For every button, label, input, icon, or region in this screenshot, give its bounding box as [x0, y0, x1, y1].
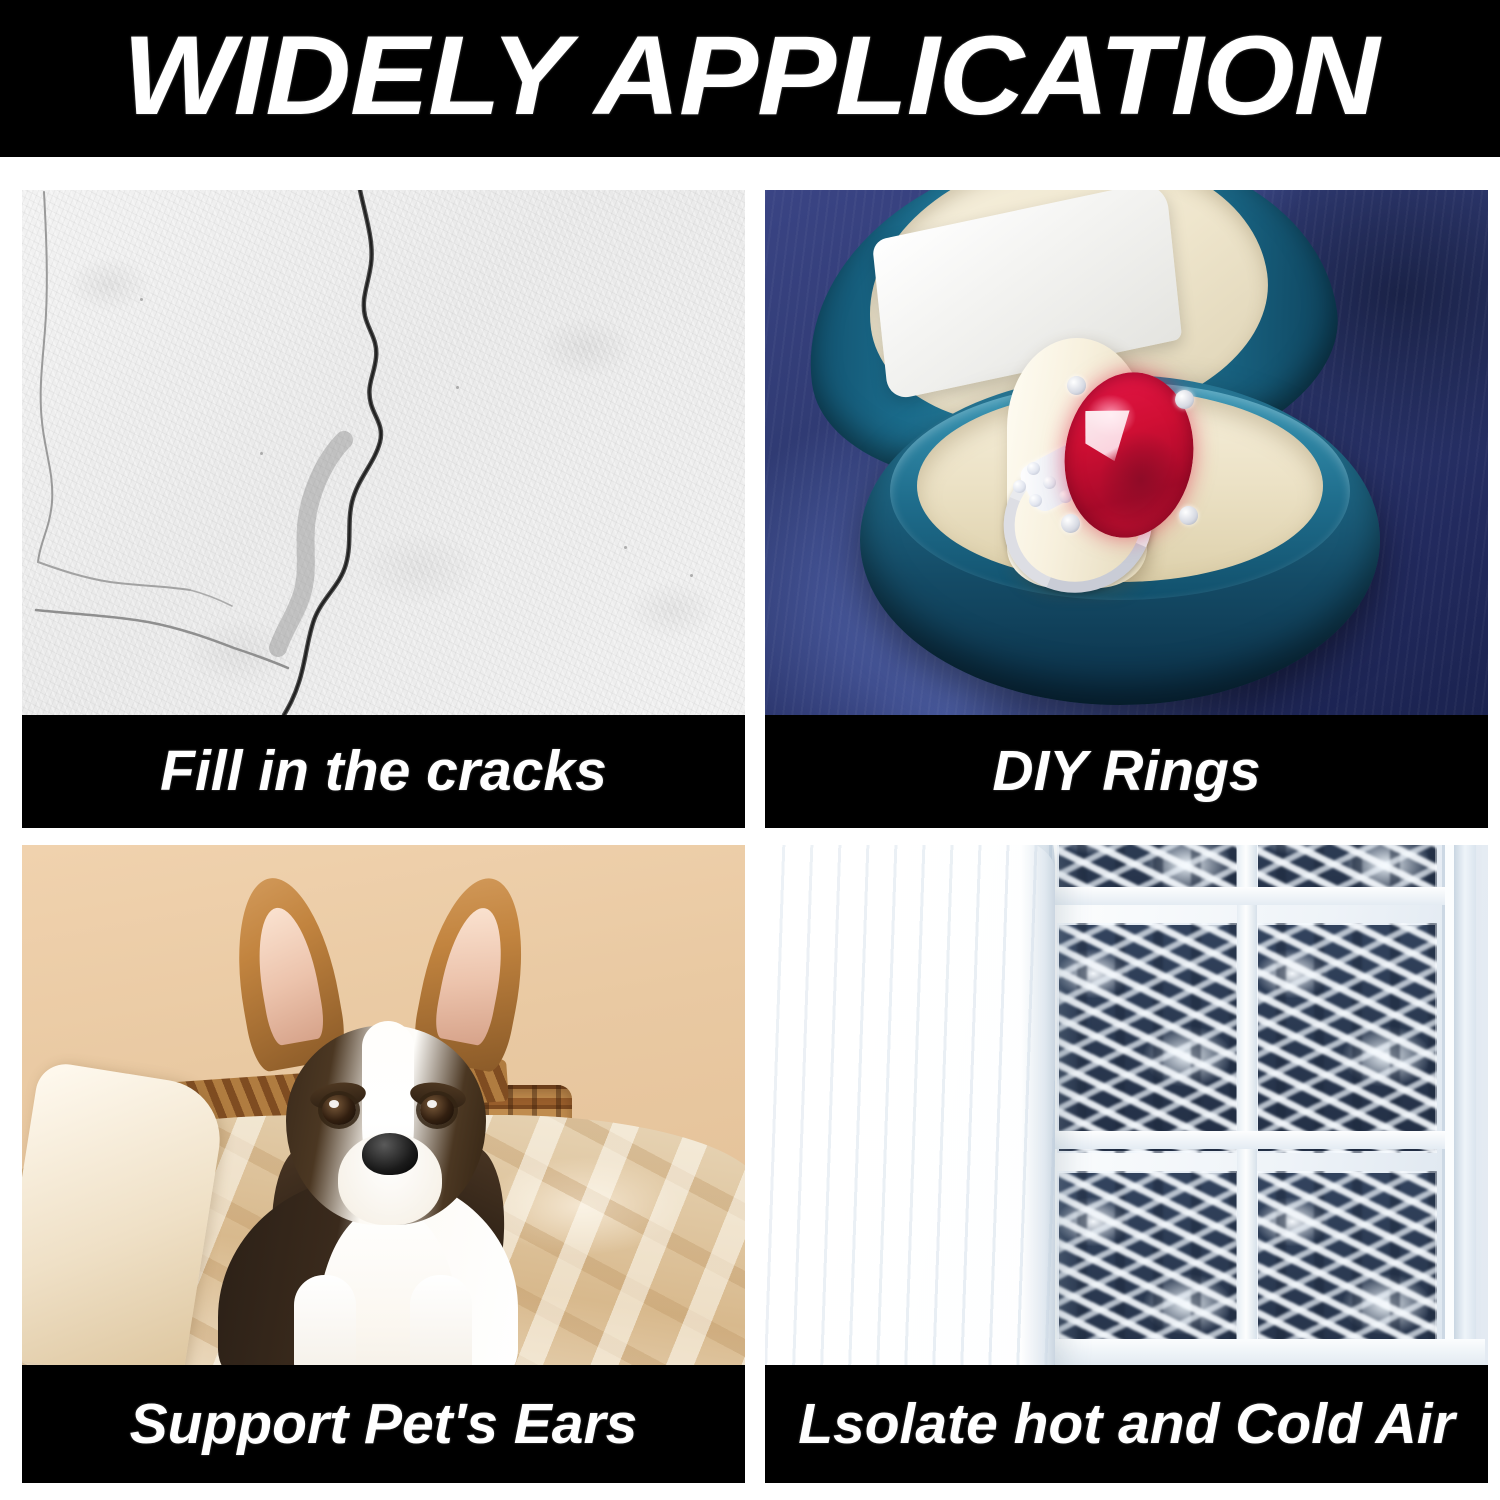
wall-speck [624, 546, 627, 549]
caption-label: Fill in the cracks [160, 743, 607, 800]
gem-prong [1067, 376, 1086, 395]
puppy-nose [362, 1133, 418, 1175]
pave-stone [1029, 494, 1042, 507]
puppy-right-eye [420, 1095, 454, 1125]
window-pane [1057, 923, 1238, 1153]
window-mullion-horizontal [1049, 1131, 1445, 1149]
page-title: WIDELY APPLICATION [122, 20, 1378, 138]
puppy-right-leg [410, 1275, 472, 1365]
gem-prong [1175, 390, 1194, 409]
puppy-left-eye [322, 1095, 356, 1125]
photo-ring-box [765, 190, 1488, 715]
pave-stone [1043, 476, 1056, 489]
window-sill [1015, 1339, 1485, 1365]
panel-diy-rings[interactable]: DIY Rings [765, 190, 1488, 828]
wall-speck [260, 452, 263, 455]
curtain-edge [1021, 845, 1055, 1365]
wall-speck [140, 298, 143, 301]
sheer-curtain [765, 845, 1055, 1365]
window-pane [1256, 923, 1437, 1153]
caption-bar-pets: Support Pet's Ears [22, 1365, 745, 1483]
caption-label: Support Pet's Ears [130, 1396, 638, 1453]
caption-bar-isolate: Lsolate hot and Cold Air [765, 1365, 1488, 1483]
wall-speck [456, 386, 459, 389]
window-mullion-horizontal [1049, 887, 1445, 905]
snowy-pines [1057, 923, 1238, 1153]
photo-corgi-puppy [22, 845, 745, 1365]
caption-label: DIY Rings [992, 743, 1260, 800]
snowy-pines [1057, 1171, 1238, 1365]
header-banner: WIDELY APPLICATION [0, 0, 1500, 157]
window-mullion-vertical [1237, 845, 1257, 1365]
crack-lines [22, 190, 745, 715]
caption-label: Lsolate hot and Cold Air [798, 1396, 1455, 1453]
snowy-pines [1256, 1171, 1437, 1365]
caption-bar-cracks: Fill in the cracks [22, 715, 745, 828]
window-outer-jamb [1454, 845, 1476, 1365]
pave-stone [1027, 462, 1040, 475]
window-pane [1256, 1171, 1437, 1365]
photo-snowy-window [765, 845, 1488, 1365]
application-grid: Fill in the cracks [22, 190, 1478, 1483]
snowy-pines [1256, 923, 1437, 1153]
pave-stone [1013, 480, 1026, 493]
gem-prong [1061, 514, 1080, 533]
window-pane [1057, 1171, 1238, 1365]
wall-speck [690, 574, 693, 577]
photo-cracked-wall [22, 190, 745, 715]
product-infographic: WIDELY APPLICATION [0, 0, 1500, 1500]
panel-fill-in-the-cracks[interactable]: Fill in the cracks [22, 190, 745, 828]
window-frame [1033, 845, 1461, 1365]
puppy-left-leg [294, 1275, 356, 1365]
panel-isolate-air[interactable]: Lsolate hot and Cold Air [765, 845, 1488, 1483]
gem-prong [1179, 506, 1198, 525]
panel-support-pets-ears[interactable]: Support Pet's Ears [22, 845, 745, 1483]
caption-bar-rings: DIY Rings [765, 715, 1488, 828]
